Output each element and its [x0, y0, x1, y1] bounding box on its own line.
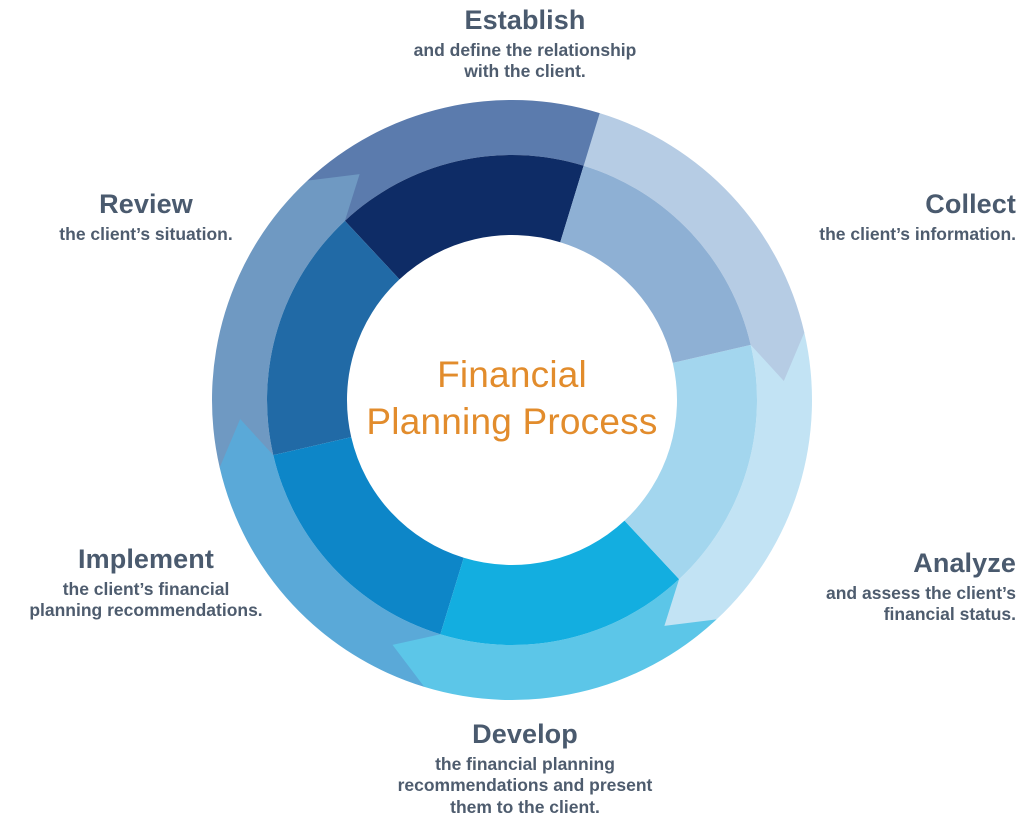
- step-label-review: Review the client’s situation.: [16, 188, 276, 245]
- diagram-canvas: Financial Planning Process Establish and…: [0, 0, 1024, 840]
- step-label-develop: Develop the financial planning recommend…: [325, 718, 725, 818]
- step-title-establish: Establish: [330, 4, 720, 37]
- step-description-collect: the client’s information.: [700, 224, 1016, 245]
- step-description-implement: the client’s financial planning recommen…: [6, 579, 286, 622]
- step-title-develop: Develop: [325, 718, 725, 751]
- step-title-collect: Collect: [700, 188, 1016, 221]
- step-description-establish: and define the relationship with the cli…: [330, 40, 720, 83]
- step-title-review: Review: [16, 188, 276, 221]
- step-label-analyze: Analyze and assess the client’s financia…: [706, 547, 1016, 626]
- step-title-analyze: Analyze: [706, 547, 1016, 580]
- step-description-review: the client’s situation.: [16, 224, 276, 245]
- step-title-implement: Implement: [6, 543, 286, 576]
- step-label-establish: Establish and define the relationship wi…: [330, 4, 720, 83]
- step-label-collect: Collect the client’s information.: [700, 188, 1016, 245]
- step-label-implement: Implement the client’s financial plannin…: [6, 543, 286, 622]
- financial-planning-process-ring: [0, 0, 1024, 840]
- step-description-develop: the financial planning recommendations a…: [325, 754, 725, 818]
- step-description-analyze: and assess the client’s financial status…: [706, 583, 1016, 626]
- ring-inner-band: [267, 155, 757, 645]
